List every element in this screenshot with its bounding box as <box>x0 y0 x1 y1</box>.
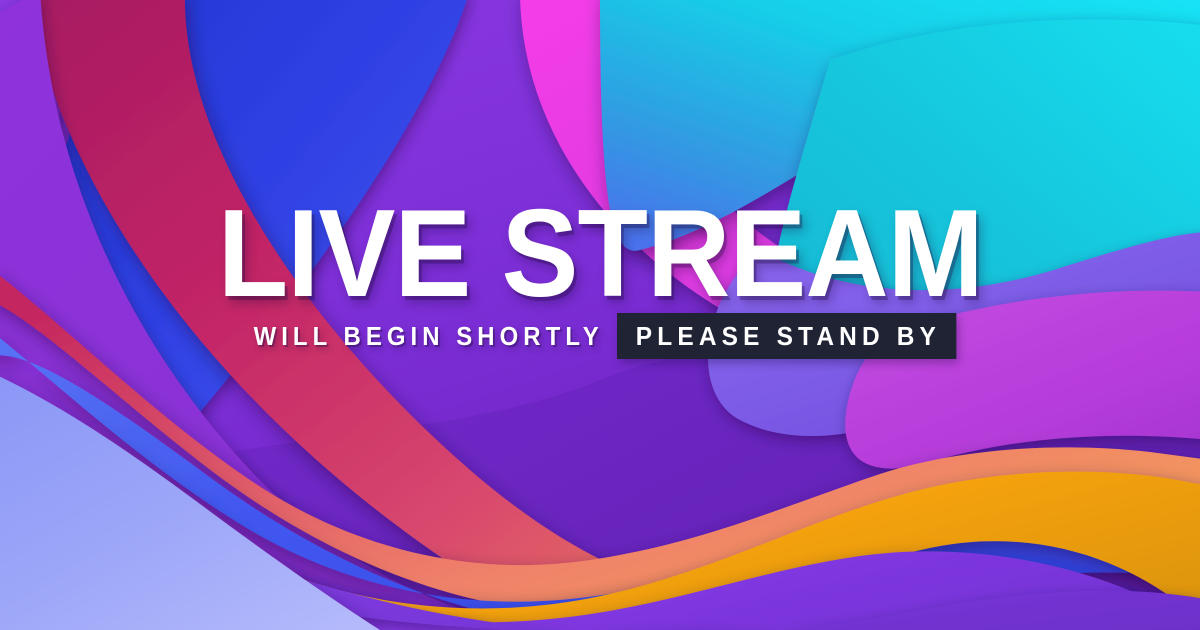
headline-overlay: LIVE STREAM WILL BEGIN SHORTLY PLEASE ST… <box>0 0 1200 630</box>
title-wrap: LIVE STREAM <box>0 204 1200 306</box>
status-badge-label: PLEASE STAND BY <box>636 316 941 356</box>
status-badge: PLEASE STAND BY <box>617 313 956 359</box>
live-stream-holding-card: LIVE STREAM WILL BEGIN SHORTLY PLEASE ST… <box>0 0 1200 630</box>
subtitle-will-begin-shortly: WILL BEGIN SHORTLY <box>254 316 617 356</box>
subtitle-row: WILL BEGIN SHORTLY PLEASE STAND BY <box>0 313 1200 359</box>
page-title: LIVE STREAM <box>217 204 982 306</box>
